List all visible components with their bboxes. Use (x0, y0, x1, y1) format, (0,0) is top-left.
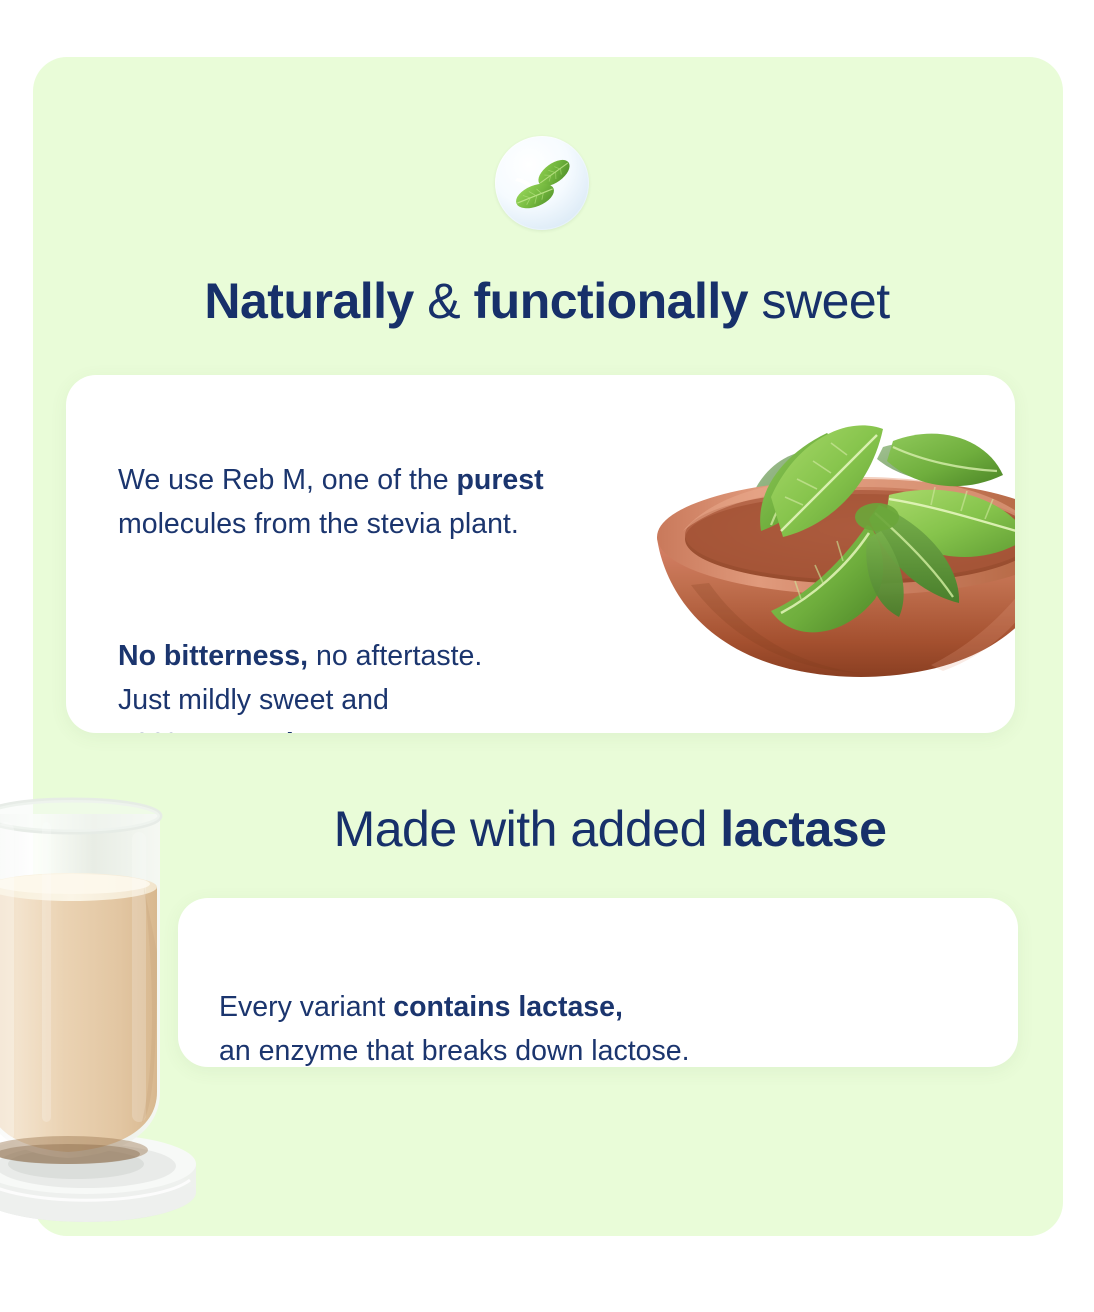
copy-1-text-1: We use Reb M, one of the (118, 464, 457, 496)
lactase-info-card: Every variant contains lactase, an enzym… (178, 898, 1018, 1067)
stevia-info-card: We use Reb M, one of the purest molecule… (66, 375, 1015, 733)
copy-1-spacer (118, 546, 678, 590)
stevia-card-copy: We use Reb M, one of the purest molecule… (118, 414, 678, 733)
copy-2-text-1: Every variant (219, 991, 393, 1023)
copy-2-bold-contains-lactase: contains lactase, (393, 991, 623, 1023)
heading-1-bold-1: Naturally (204, 273, 413, 329)
page-title-added-lactase: Made with added lactase (150, 798, 1070, 860)
heading-2-bold-1: lactase (720, 801, 886, 857)
copy-1-bold-purest: purest (457, 464, 544, 496)
heading-1-bold-2: functionally (474, 273, 749, 329)
stevia-bowl-image (631, 385, 1015, 733)
lactase-card-copy: Every variant contains lactase, an enzym… (219, 941, 879, 1067)
heading-2-light-1: Made with added (334, 801, 721, 857)
copy-1-text-2: molecules from the stevia plant. (118, 508, 519, 540)
heading-1-light-2: sweet (748, 273, 890, 329)
herb-leaves-icon (495, 136, 589, 230)
copy-1-bold-natural: 100% natural. (118, 728, 302, 733)
copy-1-bold-no-bitterness: No bitterness, (118, 640, 308, 672)
heading-1-light-1: & (414, 273, 474, 329)
page-title-naturally-sweet: Naturally & functionally sweet (0, 270, 1094, 332)
copy-2-text-2: an enzyme that breaks down lactose. (219, 1035, 690, 1067)
